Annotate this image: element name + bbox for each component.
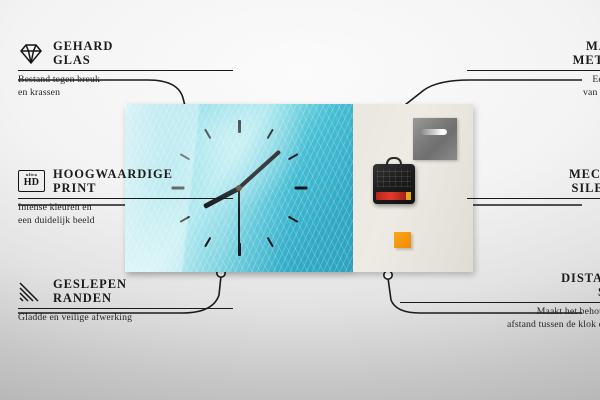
hd-label: HD [24, 178, 39, 188]
feature-desc: Bestand tegen breuken krassen [18, 71, 233, 99]
feature-title: HOOGWAARDIGEPRINT [53, 168, 173, 195]
feature-desc: Eenvoudige installatievan de klok aan de… [467, 71, 600, 99]
feature-mecanism-silentios: MECANISMSILENȚIOS Geruisloze wijzersvan … [467, 168, 600, 227]
feature-title: GEHARDGLAS [53, 40, 113, 67]
metal-hanger-part [413, 118, 457, 160]
second-hand [238, 188, 240, 250]
feature-desc: Geruisloze wijzersvan de klok [467, 199, 600, 227]
feature-geslepen-randen: GESLEPENRANDEN Gladde en veilige afwerki… [18, 278, 233, 325]
feature-title: MÂNEREMETALICE [573, 40, 600, 67]
feature-desc: Maakt het behouden van een gelijkeafstan… [400, 303, 600, 331]
diamond-icon [18, 42, 44, 66]
minute-hand [238, 150, 282, 190]
feature-title: GESLEPENRANDEN [53, 278, 127, 305]
ultra-hd-icon: ultra HD [18, 170, 44, 194]
bevelled-edge-icon [18, 280, 44, 304]
feature-hoogwaardige-print: ultra HD HOOGWAARDIGEPRINT Intense kleur… [18, 168, 233, 227]
feature-gehard-glas: GEHARDGLAS Bestand tegen breuken krassen [18, 40, 233, 99]
infographic-stage: GEHARDGLAS Bestand tegen breuken krassen… [0, 0, 600, 400]
feature-manere-metalice: MÂNEREMETALICE Eenvoudige installatievan… [467, 40, 600, 99]
clock-mechanism-part [373, 164, 415, 204]
feature-desc: Intense kleuren eneen duidelijk beeld [18, 199, 233, 227]
clock-back-panel [353, 104, 473, 272]
feature-distantier-spuma: DISTANȚIERSPUMĂ Maakt het behouden van e… [400, 272, 600, 331]
foam-spacer-part [394, 232, 411, 248]
feature-title: DISTANȚIERSPUMĂ [561, 272, 600, 299]
feature-desc: Gladde en veilige afwerking [18, 309, 233, 324]
feature-title: MECANISMSILENȚIOS [569, 168, 600, 195]
clock-center-pin [236, 185, 242, 191]
